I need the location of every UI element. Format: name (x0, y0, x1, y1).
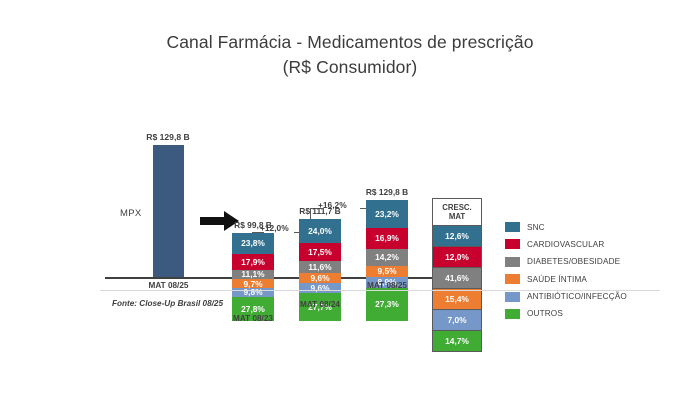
segment-saude-intima: 9,6% (299, 273, 341, 283)
legend-label: SNC (527, 223, 545, 232)
segment-cardiovascular: 17,5% (299, 243, 341, 261)
legend-item-cardiovascular: CARDIOVASCULAR (505, 239, 627, 249)
title-line-2: (R$ Consumidor) (60, 55, 640, 80)
legend-swatch-icon (505, 222, 520, 232)
legend-swatch-icon (505, 257, 520, 267)
segment-snc: 23,2% (366, 200, 408, 228)
cresc-value-outros: 14,7% (433, 330, 481, 351)
stacked-bar-mat-08-25: R$ 129,8 B 23,2% 16,9% 14,2% 9,5% 8,9% 2… (366, 200, 408, 321)
segment-saude-intima: 9,5% (366, 266, 408, 278)
legend-label: CARDIOVASCULAR (527, 240, 604, 249)
cresc-value-antibiotico-infeccao: 7,0% (433, 309, 481, 330)
cresc-mat-header: CRESC. MAT (433, 199, 481, 225)
mpx-axis-line (105, 277, 232, 279)
mpx-bar (153, 145, 184, 277)
source-footnote: Fonte: Close-Up Brasil 08/25 (112, 299, 223, 308)
chart-plot-area: MPX R$ 129,8 B MAT 08/25 +12,0% (100, 100, 700, 310)
cresc-mat-column: CRESC. MAT 12,6% 12,0% 41,6% 15,4% 7,0% … (432, 198, 482, 352)
segment-cardiovascular: 17,9% (232, 254, 274, 270)
cresc-mat-header-line-1: CRESC. (442, 203, 471, 213)
cresc-value-snc: 12,6% (433, 225, 481, 246)
legend-label: DIABETES/OBESIDADE (527, 257, 620, 266)
chart-legend: SNC CARDIOVASCULAR DIABETES/OBESIDADE SA… (505, 222, 627, 326)
bar-total-label: R$ 111,7 B (281, 206, 359, 216)
legend-item-snc: SNC (505, 222, 627, 232)
segment-diabetes-obesidade: 14,2% (366, 249, 408, 266)
footer-divider (100, 290, 660, 291)
segment-snc: 24,0% (299, 219, 341, 243)
mpx-value-label: R$ 129,8 B (118, 132, 218, 142)
stacked-bar-mat-08-24: R$ 111,7 B 24,0% 17,5% 11,6% 9,6% 9,6% 2… (299, 219, 341, 321)
stacked-bar-mat-08-23: R$ 99,8 B 23,8% 17,9% 11,1% 9,7% 9,8% 27… (232, 233, 274, 321)
cresc-value-cardiovascular: 12,0% (433, 246, 481, 267)
legend-item-antibiotico-infeccao: ANTIBIÓTICO/INFECÇÃO (505, 292, 627, 302)
legend-label: SAÚDE ÍNTIMA (527, 275, 587, 284)
legend-item-diabetes-obesidade: DIABETES/OBESIDADE (505, 257, 627, 267)
legend-swatch-icon (505, 274, 520, 284)
legend-swatch-icon (505, 309, 520, 319)
legend-label: ANTIBIÓTICO/INFECÇÃO (527, 292, 627, 301)
mpx-category-label: MAT 08/25 (105, 281, 232, 290)
slide-canvas: Canal Farmácia - Medicamentos de prescri… (0, 0, 700, 400)
segment-cardiovascular: 16,9% (366, 228, 408, 248)
bar-category-label: MAT 08/24 (281, 300, 359, 309)
legend-swatch-icon (505, 292, 520, 302)
page-title: Canal Farmácia - Medicamentos de prescri… (60, 30, 640, 80)
segment-snc: 23,8% (232, 233, 274, 254)
cresc-mat-header-line-2: MAT (449, 212, 465, 222)
legend-item-outros: OUTROS (505, 309, 627, 319)
title-line-1: Canal Farmácia - Medicamentos de prescri… (166, 32, 533, 52)
bar-total-label: R$ 99,8 B (214, 220, 292, 230)
bar-total-label: R$ 129,8 B (348, 187, 426, 197)
segment-diabetes-obesidade: 11,6% (299, 261, 341, 273)
bar-category-label: MAT 08/25 (348, 281, 426, 290)
cresc-value-diabetes-obesidade: 41,6% (433, 267, 481, 288)
segment-outros: 27,3% (366, 288, 408, 321)
legend-swatch-icon (505, 239, 520, 249)
legend-label: OUTROS (527, 309, 563, 318)
mpx-label: MPX (120, 208, 142, 219)
legend-item-saude-intima: SAÚDE ÍNTIMA (505, 274, 627, 284)
bar-category-label: MAT 08/23 (214, 314, 292, 323)
segment-diabetes-obesidade: 11,1% (232, 270, 274, 280)
